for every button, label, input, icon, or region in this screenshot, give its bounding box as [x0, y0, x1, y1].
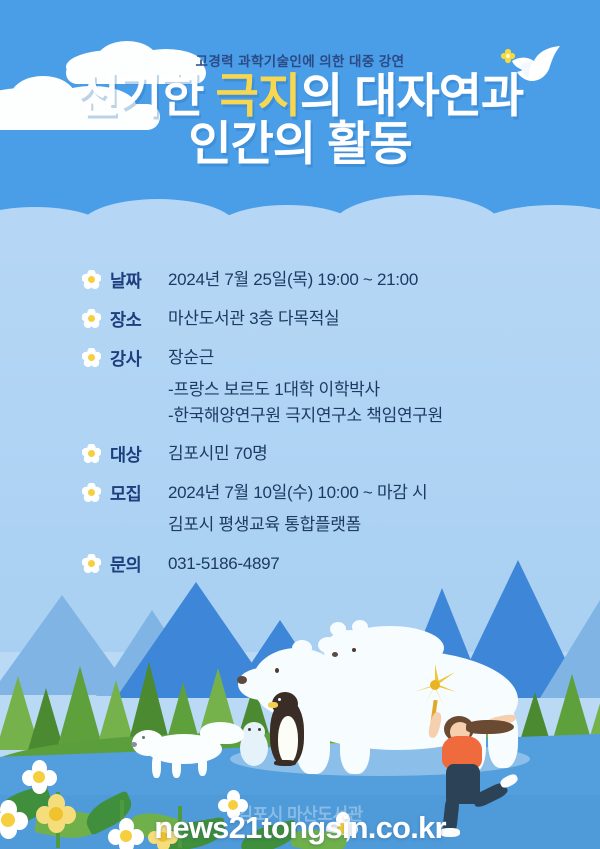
- poster-subtitle: 고경력 과학기술인에 의한 대중 강연: [0, 50, 600, 70]
- info-value: 031-5186-4897: [168, 552, 279, 577]
- info-row-문의: 문의031-5186-4897: [82, 552, 552, 577]
- info-subline: -한국해양연구원 극지연구소 책임연구원: [168, 403, 552, 429]
- flower-bullet-icon: [82, 309, 101, 328]
- watermark-url: news21tongsin.co.kr: [0, 810, 600, 846]
- cloud-scallop-divider: [0, 185, 600, 255]
- info-row-장소: 장소마산도서관 3층 다목적실: [82, 307, 552, 332]
- poster-canvas: 고경력 과학기술인에 의한 대중 강연 신기한 극지의 대자연과 인간의 활동: [0, 0, 600, 849]
- title-part-a: 신기한: [77, 69, 216, 122]
- info-value: 마산도서관 3층 다목적실: [168, 307, 339, 332]
- info-row-날짜: 날짜2024년 7월 25일(목) 19:00 ~ 21:00: [82, 268, 552, 293]
- title-line-1: 신기한 극지의 대자연과: [0, 72, 600, 120]
- info-label: 문의: [110, 552, 168, 577]
- flower-bullet-icon: [82, 554, 101, 573]
- info-list: 날짜2024년 7월 25일(목) 19:00 ~ 21:00 장소마산도서관 …: [82, 268, 552, 591]
- info-label: 강사: [110, 346, 168, 371]
- info-value: 김포시민 70명: [168, 442, 267, 467]
- info-subline: 김포시 평생교육 통합플랫폼: [168, 512, 552, 538]
- info-label: 날짜: [110, 268, 168, 293]
- flower-bullet-icon: [82, 270, 101, 289]
- info-label: 대상: [110, 442, 168, 467]
- info-subline: -프랑스 보르도 1대학 이학박사: [168, 377, 552, 403]
- flower-white-1: [22, 760, 56, 794]
- title-part-b: 의 대자연과: [300, 69, 523, 122]
- info-label: 장소: [110, 307, 168, 332]
- info-value: 2024년 7월 25일(목) 19:00 ~ 21:00: [168, 268, 418, 293]
- title-line-2: 인간의 활동: [0, 120, 600, 168]
- flower-bullet-icon: [82, 348, 101, 367]
- info-row-대상: 대상김포시민 70명: [82, 442, 552, 467]
- info-sublines-강사: -프랑스 보르도 1대학 이학박사-한국해양연구원 극지연구소 책임연구원: [168, 377, 552, 428]
- flower-bullet-icon: [82, 444, 101, 463]
- title-highlight: 극지: [216, 69, 300, 122]
- poster-title: 신기한 극지의 대자연과 인간의 활동: [0, 72, 600, 168]
- info-value: 장순근: [168, 346, 214, 371]
- info-label: 모집: [110, 481, 168, 506]
- info-row-강사: 강사장순근: [82, 346, 552, 371]
- info-sublines-모집: 김포시 평생교육 통합플랫폼: [168, 512, 552, 538]
- flower-bullet-icon: [82, 483, 101, 502]
- info-row-모집: 모집2024년 7월 10일(수) 10:00 ~ 마감 시: [82, 481, 552, 506]
- info-value: 2024년 7월 10일(수) 10:00 ~ 마감 시: [168, 481, 427, 506]
